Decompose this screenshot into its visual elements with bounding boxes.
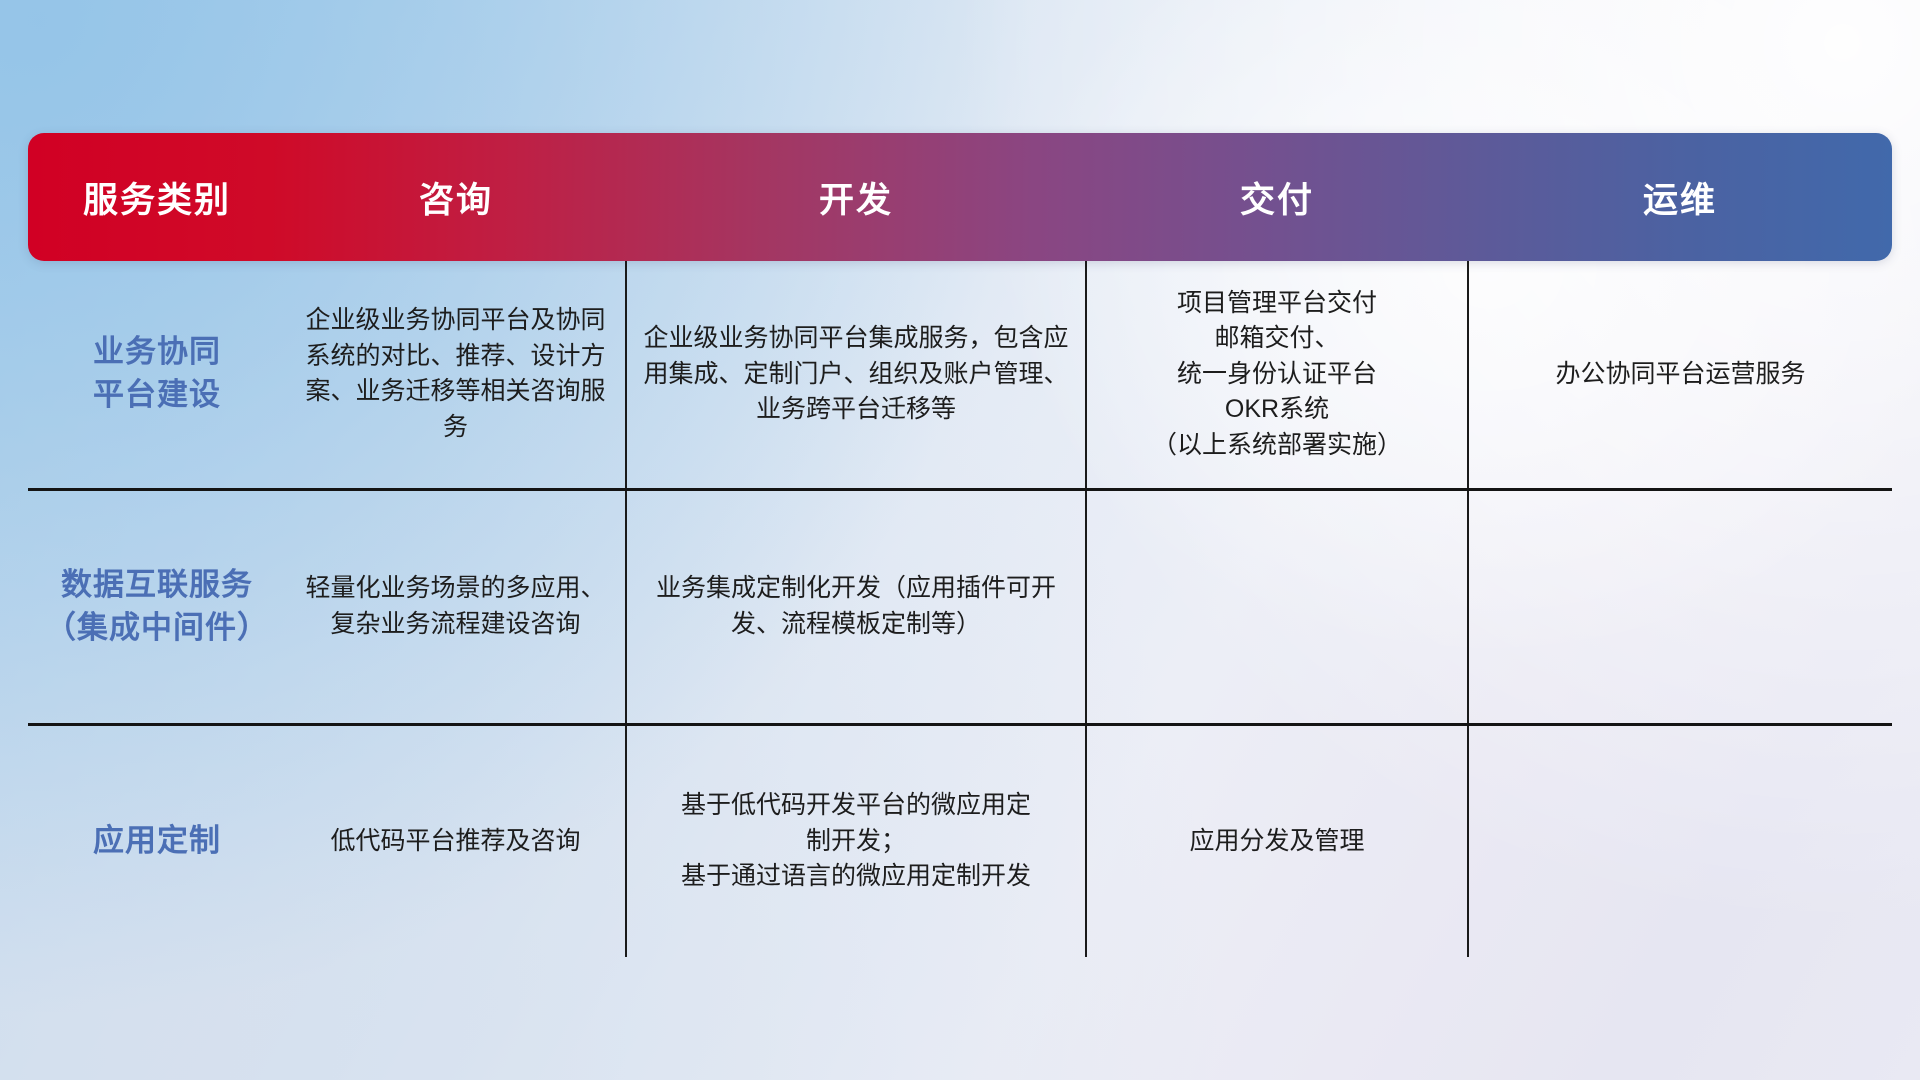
column-header-development: 开发 (626, 133, 1086, 261)
delivery-line: OKR系统 (1103, 392, 1451, 428)
development-line: 基于低代码开发平台的微应用定 (643, 788, 1069, 824)
cell-consulting-row-1: 企业级业务协同平台及协同系统的对比、推荐、设计方案、业务迁移等相关咨询服务 (286, 261, 626, 489)
column-header-consulting: 咨询 (286, 133, 626, 261)
development-line: 基于通过语言的微应用定制开发 (643, 859, 1069, 895)
cell-consulting-row-3: 低代码平台推荐及咨询 (286, 724, 626, 957)
column-header-operations: 运维 (1468, 133, 1892, 261)
delivery-line: 邮箱交付、 (1103, 321, 1451, 357)
cell-consulting-row-2: 轻量化业务场景的多应用、复杂业务流程建设咨询 (286, 489, 626, 724)
slide-canvas: 服务类别 咨询 开发 交付 运维 业务协同 平台建设 企业级业务协同平台及协同系… (0, 0, 1920, 1080)
delivery-line: 项目管理平台交付 (1103, 286, 1451, 322)
cell-operations-row-3 (1468, 724, 1892, 957)
cell-delivery-row-2 (1086, 489, 1468, 724)
table-row: 应用定制 低代码平台推荐及咨询 基于低代码开发平台的微应用定 制开发； 基于通过… (28, 724, 1892, 957)
cell-development-row-1: 企业级业务协同平台集成服务，包含应用集成、定制门户、组织及账户管理、业务跨平台迁… (626, 261, 1086, 489)
cell-delivery-row-1: 项目管理平台交付 邮箱交付、 统一身份认证平台 OKR系统 （以上系统部署实施） (1086, 261, 1468, 489)
cell-delivery-row-3: 应用分发及管理 (1086, 724, 1468, 957)
table-header-row: 服务类别 咨询 开发 交付 运维 (28, 133, 1892, 261)
row-label-line-2: 平台建设 (44, 374, 270, 417)
row-label-line-1: 业务协同 (44, 331, 270, 374)
row-label-line-1: 应用定制 (44, 820, 270, 863)
table-header-row-group: 服务类别 咨询 开发 交付 运维 (28, 133, 1892, 261)
column-header-delivery: 交付 (1086, 133, 1468, 261)
table-body: 业务协同 平台建设 企业级业务协同平台及协同系统的对比、推荐、设计方案、业务迁移… (28, 261, 1892, 957)
row-label-data-interconnect-service: 数据互联服务 （集成中间件） (28, 489, 286, 724)
delivery-line: 统一身份认证平台 (1103, 357, 1451, 393)
row-label-line-1: 数据互联服务 (44, 564, 270, 607)
service-matrix-container: 服务类别 咨询 开发 交付 运维 业务协同 平台建设 企业级业务协同平台及协同系… (28, 133, 1892, 957)
cell-operations-row-2 (1468, 489, 1892, 724)
column-header-service-category: 服务类别 (28, 133, 286, 261)
service-matrix-table: 服务类别 咨询 开发 交付 运维 业务协同 平台建设 企业级业务协同平台及协同系… (28, 133, 1892, 957)
row-label-business-collaboration-platform: 业务协同 平台建设 (28, 261, 286, 489)
cell-operations-row-1: 办公协同平台运营服务 (1468, 261, 1892, 489)
table-row: 数据互联服务 （集成中间件） 轻量化业务场景的多应用、复杂业务流程建设咨询 业务… (28, 489, 1892, 724)
table-row: 业务协同 平台建设 企业级业务协同平台及协同系统的对比、推荐、设计方案、业务迁移… (28, 261, 1892, 489)
cell-development-row-2: 业务集成定制化开发（应用插件可开发、流程模板定制等） (626, 489, 1086, 724)
row-label-application-customization: 应用定制 (28, 724, 286, 957)
row-label-line-2: （集成中间件） (44, 607, 270, 650)
development-line: 制开发； (643, 824, 1069, 860)
cell-development-row-3: 基于低代码开发平台的微应用定 制开发； 基于通过语言的微应用定制开发 (626, 724, 1086, 957)
delivery-line: （以上系统部署实施） (1103, 428, 1451, 464)
